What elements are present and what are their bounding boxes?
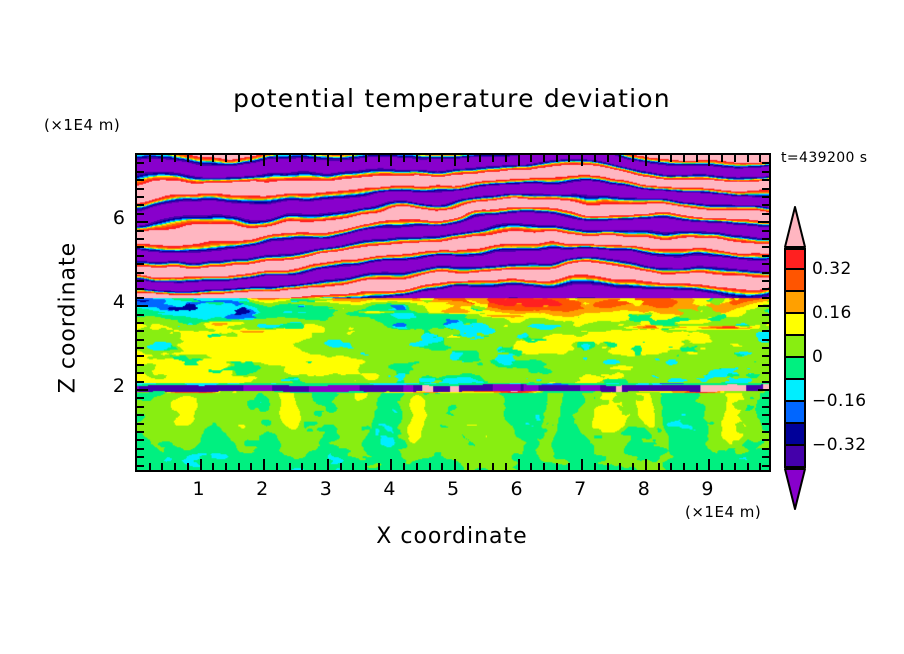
y-tick-label: 4 [95,291,125,313]
x-tick-label: 5 [433,478,473,500]
colorbar-extend-top-arrow [784,206,806,248]
colorbar-block [784,380,806,402]
colorbar-block [784,358,806,380]
y-tick-label: 6 [95,207,125,229]
y-tick-label: 2 [95,375,125,397]
colorbar-tick-label: 0 [812,347,823,367]
y-axis-unit-label: (×1E4 m) [44,116,120,134]
x-tick-label: 9 [687,478,727,500]
timestamp-annotation: t=439200 s [781,150,867,166]
x-tick-label: 3 [306,478,346,500]
colorbar-tick-label: −0.32 [812,435,867,455]
x-tick-label: 2 [242,478,282,500]
x-tick-label: 7 [560,478,600,500]
contour-plot-area [135,153,771,472]
y-axis-title: Z coordinate [56,188,81,448]
colorbar-block [784,424,806,446]
colorbar-block [784,248,806,270]
colorbar-extend-bottom-arrow [784,468,806,510]
colorbar-tick-label: 0.32 [812,259,852,279]
page-title: potential temperature deviation [0,84,904,113]
colorbar-tick-label: 0.16 [812,303,852,323]
x-tick-label: 4 [369,478,409,500]
colorbar-tick-label: −0.16 [812,391,867,411]
colorbar-block [784,446,806,468]
contour-field-canvas [137,155,769,470]
colorbar-block [784,292,806,314]
x-tick-label: 6 [497,478,537,500]
colorbar [784,248,806,468]
x-axis-unit-label: (×1E4 m) [685,503,761,521]
colorbar-block [784,336,806,358]
colorbar-block [784,402,806,424]
x-axis-title: X coordinate [0,524,904,549]
x-tick-label: 8 [624,478,664,500]
colorbar-block [784,314,806,336]
x-tick-label: 1 [179,478,219,500]
colorbar-block [784,270,806,292]
